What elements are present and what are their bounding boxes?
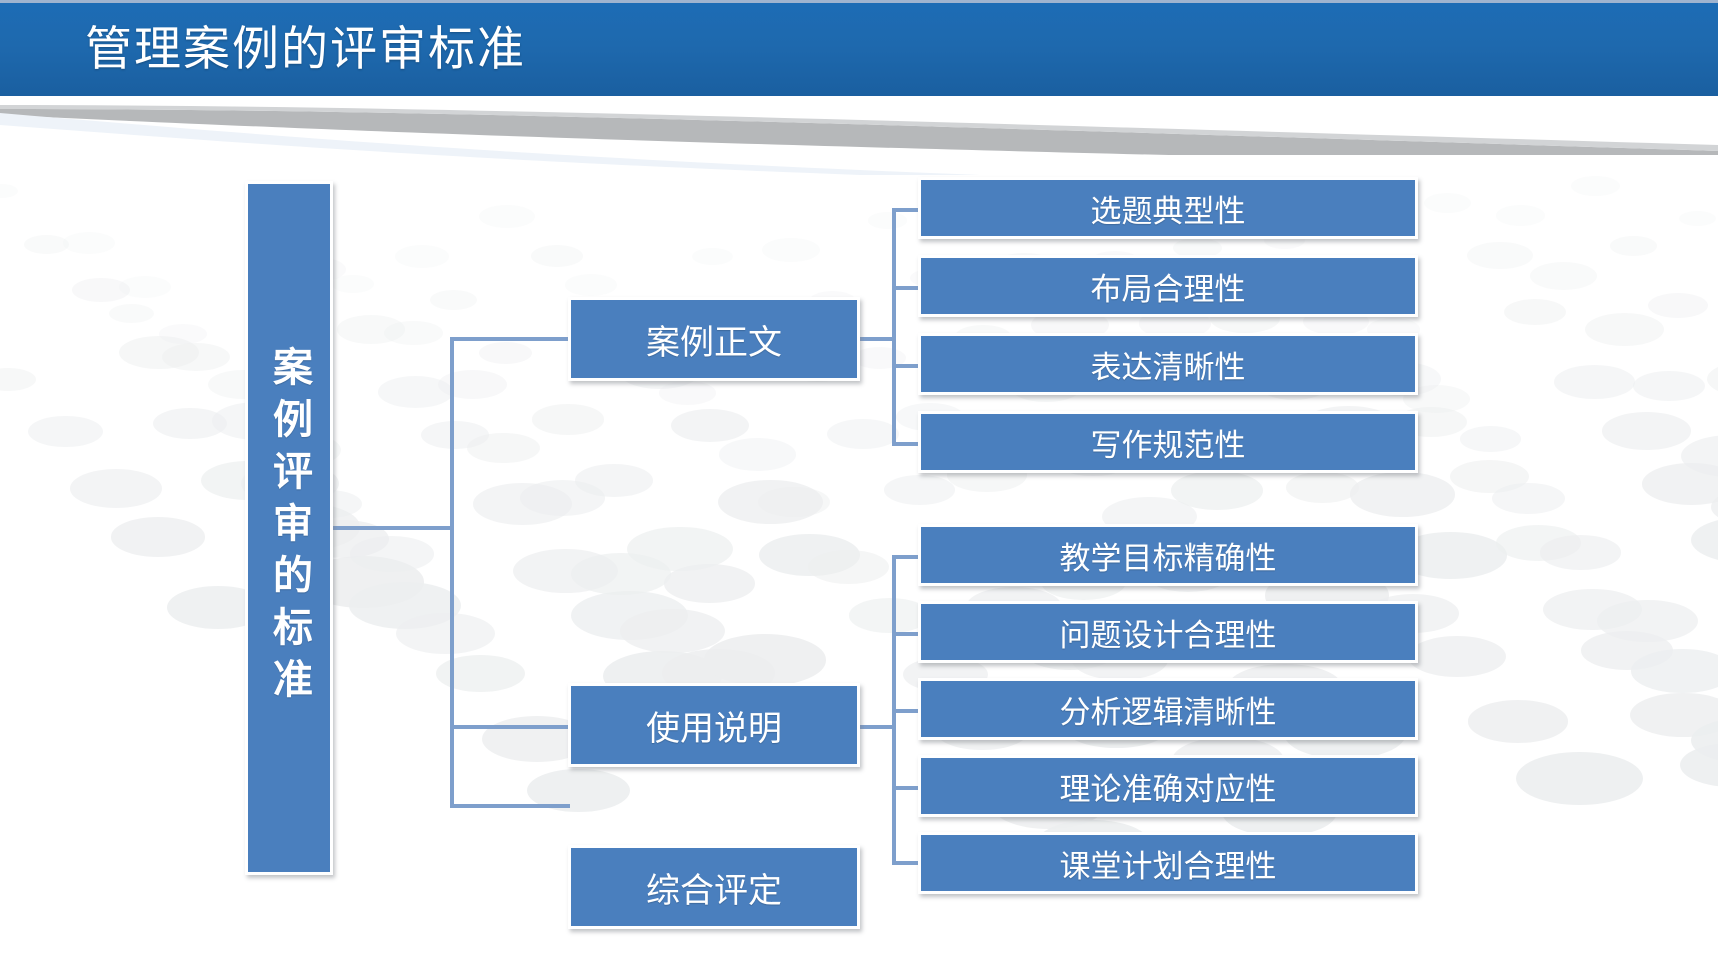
node-leaf-1-2-label: 布局合理性 xyxy=(1091,264,1246,309)
node-leaf-2-4[interactable]: 理论准确对应性 xyxy=(918,755,1418,817)
node-leaf-2-3[interactable]: 分析逻辑清晰性 xyxy=(918,678,1418,740)
node-leaf-1-4-label: 写作规范性 xyxy=(1091,420,1246,465)
node-branch-2-label: 使用说明 xyxy=(646,701,782,750)
connector-trunk-to-branch-2 xyxy=(450,725,570,729)
header-swoosh-white xyxy=(0,95,1718,175)
node-leaf-1-1-label: 选题典型性 xyxy=(1091,186,1246,231)
node-leaf-2-1-label: 教学目标精确性 xyxy=(1060,533,1277,578)
node-leaf-1-3-label: 表达清晰性 xyxy=(1091,342,1246,387)
node-branch-3[interactable]: 综合评定 xyxy=(568,845,860,929)
page-title: 管理案例的评审标准 xyxy=(85,11,526,89)
node-leaf-2-2[interactable]: 问题设计合理性 xyxy=(918,601,1418,663)
node-leaf-1-2[interactable]: 布局合理性 xyxy=(918,255,1418,317)
node-leaf-2-1[interactable]: 教学目标精确性 xyxy=(918,524,1418,586)
node-leaf-2-5[interactable]: 课堂计划合理性 xyxy=(918,832,1418,894)
connector-branch-2-stub xyxy=(858,725,896,729)
node-branch-1-label: 案例正文 xyxy=(646,315,782,364)
node-root[interactable]: 案例评审的标准 xyxy=(245,181,333,875)
node-leaf-2-3-label: 分析逻辑清晰性 xyxy=(1060,687,1277,732)
connector-branch-1-stub xyxy=(858,337,896,341)
connector-trunk-to-branch-3 xyxy=(450,804,570,808)
connector-main-trunk xyxy=(450,337,454,807)
node-leaf-1-4[interactable]: 写作规范性 xyxy=(918,411,1418,473)
node-leaf-2-4-label: 理论准确对应性 xyxy=(1060,764,1277,809)
node-leaf-1-3[interactable]: 表达清晰性 xyxy=(918,333,1418,395)
node-branch-3-label: 综合评定 xyxy=(646,863,782,912)
node-leaf-1-1[interactable]: 选题典型性 xyxy=(918,177,1418,239)
slide-canvas: 管理案例的评审标准 案例评审的标准 案例正文 xyxy=(0,0,1718,972)
connector-branch-1-trunk xyxy=(892,208,896,446)
connector-root-stub xyxy=(333,526,454,530)
node-leaf-2-5-label: 课堂计划合理性 xyxy=(1060,841,1277,886)
node-branch-1[interactable]: 案例正文 xyxy=(568,297,860,381)
connector-trunk-to-branch-1 xyxy=(450,337,570,341)
node-leaf-2-2-label: 问题设计合理性 xyxy=(1060,610,1277,655)
node-root-label: 案例评审的标准 xyxy=(260,346,318,710)
node-branch-2[interactable]: 使用说明 xyxy=(568,683,860,767)
